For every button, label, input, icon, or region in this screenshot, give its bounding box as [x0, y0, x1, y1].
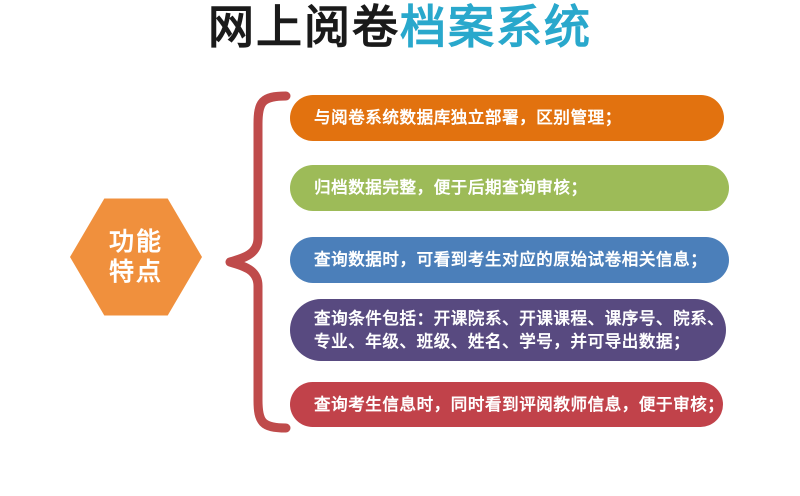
- feature-bar-1-text: 与阅卷系统数据库独立部署，区别管理；: [314, 106, 622, 129]
- page-title-accent: 档案系统: [400, 0, 592, 54]
- badge-label-line-2: 特点: [109, 257, 163, 288]
- feature-bar-3-text: 查询数据时，可看到考生对应的原始试卷相关信息；: [314, 248, 707, 271]
- page-title: 网上阅卷档案系统: [0, 4, 800, 50]
- feature-bar-2-text: 归档数据完整，便于后期查询审核；: [314, 176, 588, 199]
- feature-bar-4[interactable]: 查询条件包括：开课院系、开课课程、课序号、院系、 专业、年级、班级、姓名、学号，…: [290, 299, 726, 361]
- feature-bar-1[interactable]: 与阅卷系统数据库独立部署，区别管理；: [290, 95, 724, 141]
- feature-bar-1-line-1: 与阅卷系统数据库独立部署，区别管理；: [314, 106, 622, 129]
- feature-category-badge: 功能 特点: [70, 196, 202, 318]
- curly-brace-icon: [200, 88, 292, 436]
- feature-bar-5-line-1: 查询考生信息时，同时看到评阅教师信息，便于审核；: [314, 393, 724, 416]
- feature-bar-5[interactable]: 查询考生信息时，同时看到评阅教师信息，便于审核；: [290, 382, 723, 427]
- feature-bar-2-line-1: 归档数据完整，便于后期查询审核；: [314, 176, 588, 199]
- badge-label: 功能 特点: [70, 196, 202, 318]
- feature-bar-4-line-1: 查询条件包括：开课院系、开课课程、课序号、院系、: [314, 307, 724, 330]
- feature-bar-3-line-1: 查询数据时，可看到考生对应的原始试卷相关信息；: [314, 248, 707, 271]
- feature-bar-2[interactable]: 归档数据完整，便于后期查询审核；: [290, 165, 729, 211]
- page-title-primary: 网上阅卷: [208, 0, 400, 54]
- feature-bar-3[interactable]: 查询数据时，可看到考生对应的原始试卷相关信息；: [290, 237, 729, 283]
- infographic-canvas: 网上阅卷档案系统 功能 特点 与阅卷系统数据库独立部署，区别管理； 归档数据完整…: [0, 0, 800, 496]
- feature-bar-5-text: 查询考生信息时，同时看到评阅教师信息，便于审核；: [314, 393, 724, 416]
- feature-bar-4-line-2: 专业、年级、班级、姓名、学号，并可导出数据；: [314, 330, 724, 353]
- feature-bar-4-text: 查询条件包括：开课院系、开课课程、课序号、院系、 专业、年级、班级、姓名、学号，…: [314, 307, 724, 354]
- badge-label-line-1: 功能: [109, 227, 163, 258]
